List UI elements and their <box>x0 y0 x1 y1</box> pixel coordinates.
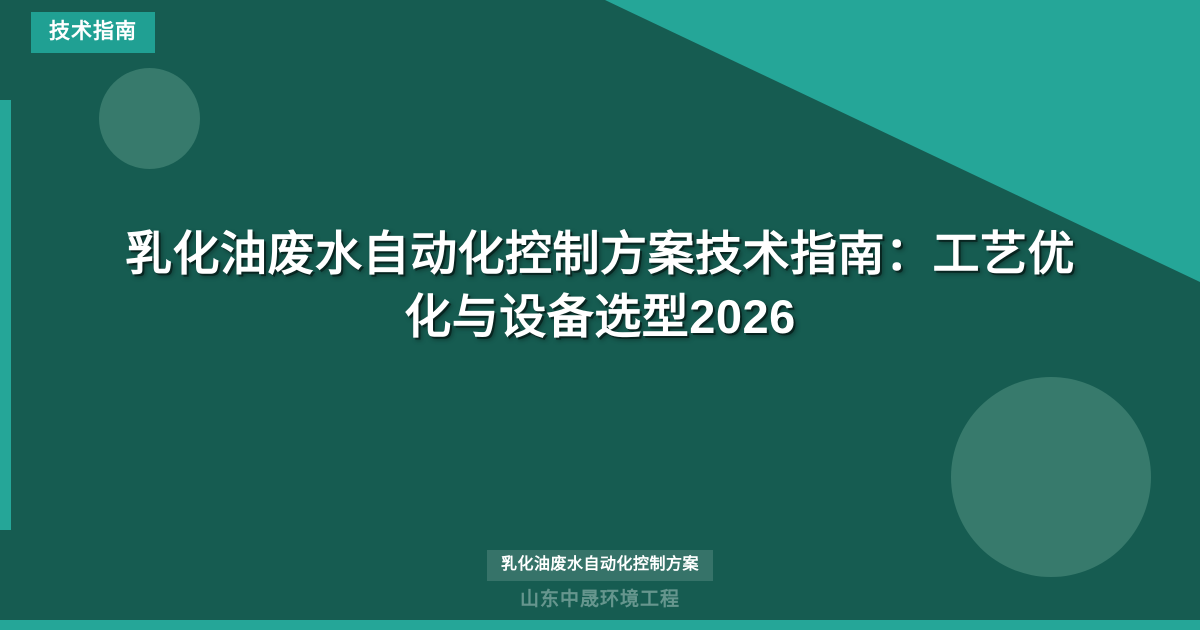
category-badge: 技术指南 <box>31 12 155 53</box>
topic-chip: 乳化油废水自动化控制方案 <box>487 550 713 581</box>
company-name: 山东中晟环境工程 <box>0 589 1200 612</box>
cover-banner: 技术指南 乳化油废水自动化控制方案技术指南：工艺优化与设备选型2026 乳化油废… <box>0 0 1200 630</box>
title-container: 乳化油废水自动化控制方案技术指南：工艺优化与设备选型2026 <box>0 222 1200 349</box>
background-circle-top-left <box>99 68 200 169</box>
background-circle-bottom-right <box>951 377 1151 577</box>
footer: 乳化油废水自动化控制方案 山东中晟环境工程 <box>0 550 1200 612</box>
accent-bar-bottom <box>0 620 1200 630</box>
page-title: 乳化油废水自动化控制方案技术指南：工艺优化与设备选型2026 <box>120 222 1080 349</box>
